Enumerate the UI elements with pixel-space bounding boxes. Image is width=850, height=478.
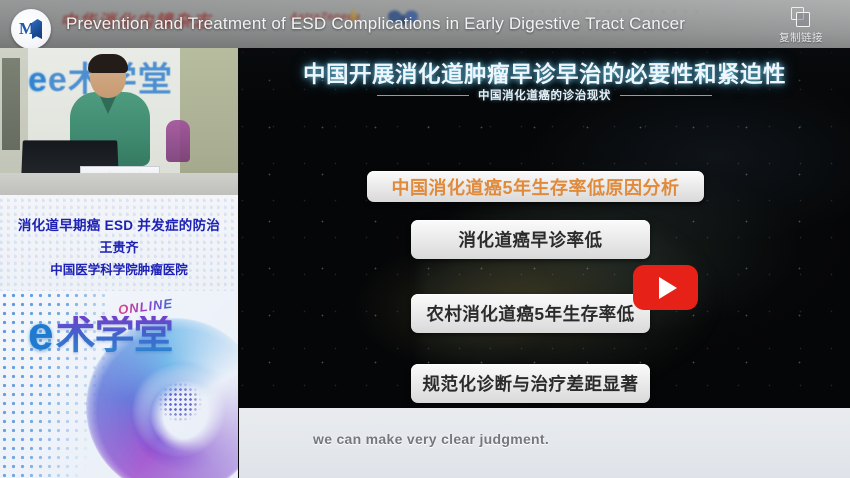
slide-video-area[interactable]: 中国开展消化道肿瘤早诊早治的必要性和紧迫性 中国消化道癌的诊治现状 中国消化道癌… — [239, 48, 850, 408]
copy-icon-front-square — [796, 12, 810, 27]
site-logo[interactable]: M — [11, 9, 51, 48]
video-page-stage: ee术学堂 王贵齐 教授 消化道早期癌 ESD 并发症的防治 王贵齐 中国医学科… — [0, 0, 850, 478]
logo-shape-icon — [32, 19, 42, 39]
page-title: Prevention and Treatment of ESD Complica… — [66, 0, 685, 48]
desk — [0, 173, 238, 195]
brand-card: e 术学堂 ONLINE — [0, 291, 238, 478]
slide-pill-rural-survival: 农村消化道癌5年生存率低 — [411, 294, 650, 333]
slide-subtitle-row: 中国消化道癌的诊治现状 — [239, 87, 850, 103]
caption-strip: we can make very clear judgment. — [239, 408, 850, 478]
slide-pill-low-early-diagnosis: 消化道癌早诊率低 — [411, 220, 650, 259]
copy-link-label: 复制链接 — [779, 30, 823, 45]
copy-link-button[interactable]: 复制链接 — [762, 4, 840, 48]
microphone-stand — [166, 120, 190, 162]
subtitle-rule-right — [620, 95, 712, 96]
lecture-affiliation: 中国医学科学院肿瘤医院 — [50, 259, 188, 278]
slide-pill-cause-analysis: 中国消化道癌5年生存率低原因分析 — [367, 171, 704, 202]
caption-text: we can make very clear judgment. — [313, 431, 549, 447]
room-door — [2, 58, 20, 150]
subtitle-rule-left — [377, 95, 469, 96]
play-triangle-icon — [659, 277, 677, 299]
speaker-panel: ee术学堂 王贵齐 教授 消化道早期癌 ESD 并发症的防治 王贵齐 中国医学科… — [0, 0, 238, 478]
brand-logo-chinese: 术学堂 — [56, 316, 173, 354]
brand-logo: e 术学堂 — [28, 313, 173, 354]
brand-logo-e: e — [28, 313, 54, 354]
swirl-core-dots — [158, 382, 202, 422]
logo-mark-icon: M — [19, 19, 43, 39]
lecture-title: 消化道早期癌 ESD 并发症的防治 — [18, 214, 220, 234]
video-header-bar: 中华消化内镜杂志 AstraZeneca M Prevention and Tr… — [0, 0, 850, 48]
copy-icon — [791, 7, 811, 27]
speaker-hair — [88, 54, 128, 73]
lecture-speaker-name: 王贵齐 — [99, 237, 138, 256]
speaker-camera-view: ee术学堂 王贵齐 教授 — [0, 48, 238, 195]
lecture-title-block: 消化道早期癌 ESD 并发症的防治 王贵齐 中国医学科学院肿瘤医院 — [0, 195, 238, 291]
slide-pill-standardization-gap: 规范化诊断与治疗差距显著 — [411, 364, 650, 403]
slide-subtitle: 中国消化道癌的诊治现状 — [478, 87, 611, 103]
slide-title: 中国开展消化道肿瘤早诊早治的必要性和紧迫性 — [239, 57, 850, 89]
play-button[interactable] — [633, 265, 698, 310]
